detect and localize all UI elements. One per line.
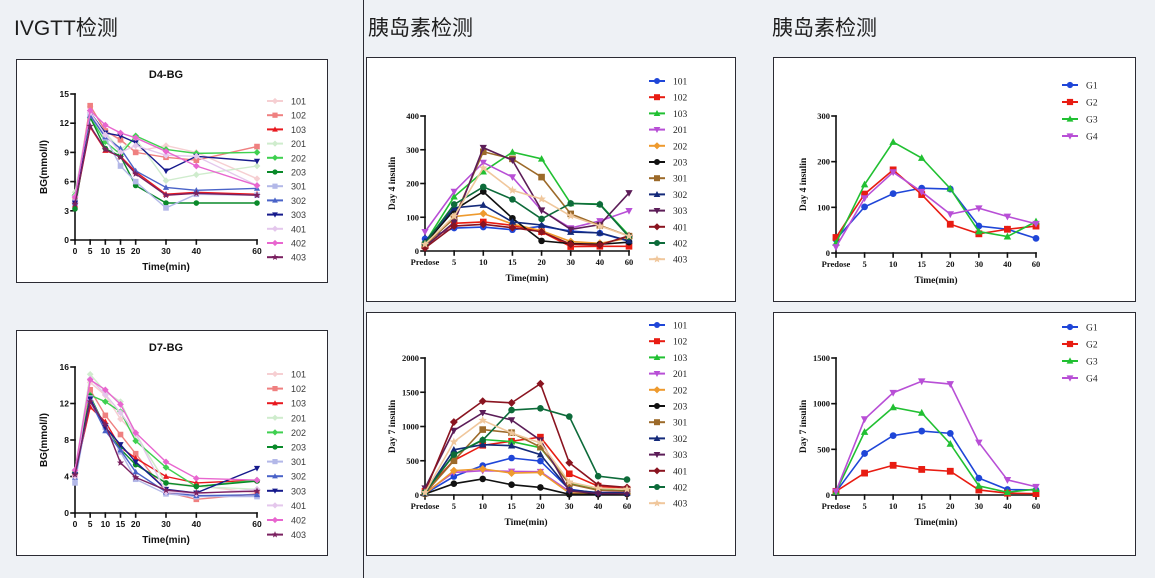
legend-marker-triangle-down-icon: [1062, 375, 1078, 381]
y-tick-label: 12: [60, 118, 70, 128]
chart-g-day4: 0100200300Predose5101520304060Time(min)D…: [774, 58, 1135, 301]
y-tick-label: 0: [64, 235, 69, 245]
x-tick-label: 60: [252, 519, 262, 529]
x-tick-label: 40: [594, 501, 603, 511]
legend-marker-triangle-icon: [267, 197, 283, 202]
legend-item-402[interactable]: 402: [649, 240, 688, 250]
x-tick-label: 10: [478, 501, 487, 511]
y-axis-label: Day 4 insulin: [799, 157, 809, 211]
x-tick-label: 15: [917, 501, 926, 511]
legend-item-101[interactable]: 101: [649, 78, 688, 88]
x-tick-label: 20: [946, 501, 955, 511]
legend-marker-triangle-down-icon: [649, 371, 665, 377]
y-tick-label: 15: [60, 89, 70, 99]
x-axis-label: Time(min): [142, 262, 190, 273]
y-tick-label: 200: [406, 179, 419, 189]
legend-label: 203: [291, 168, 306, 178]
legend-marker-diamond-icon: [267, 240, 283, 246]
legend-label: 201: [291, 413, 306, 423]
legend-marker-diamond-icon: [649, 223, 665, 230]
legend-label: 201: [673, 370, 688, 380]
chart-panel-day7-insulin: 0500100015002000Predose5101520304060Time…: [366, 312, 736, 556]
legend-label: 103: [673, 354, 688, 364]
legend-marker-triangle-icon: [649, 191, 665, 197]
legend-item-301[interactable]: 301: [649, 175, 688, 185]
legend-marker-diamond-icon: [267, 98, 283, 104]
legend-marker-triangle-icon: [267, 400, 283, 405]
y-tick-label: 0: [826, 248, 830, 258]
x-tick-label: 15: [917, 259, 926, 269]
x-tick-label: 30: [975, 501, 984, 511]
legend-item-101[interactable]: 101: [267, 370, 306, 380]
legend-marker-circle-icon: [649, 403, 665, 409]
legend-label: 202: [291, 428, 306, 438]
chart-legend: 101102103201202203301302303401402403: [649, 322, 688, 510]
legend-label: 101: [673, 78, 688, 88]
legend-marker-square-icon: [649, 175, 665, 181]
y-axis-label: Day 4 insulin: [388, 156, 398, 210]
y-tick-label: 6: [64, 177, 69, 187]
chart-legend: 101102103201202203301302303401402403: [267, 97, 306, 263]
chart-legend: 101102103201202203301302303401402403: [267, 370, 306, 541]
legend-label: 301: [673, 175, 688, 185]
x-axis: Predose5101520304060: [822, 253, 1041, 269]
legend-marker-triangle-icon: [267, 126, 283, 131]
y-tick-label: 100: [406, 212, 419, 222]
chart-d7bg: D7-BG048121605101520304060Time(min)BG(mm…: [17, 331, 327, 555]
y-axis-label: Day 7 insulin: [799, 399, 809, 453]
x-tick-label: 15: [507, 501, 516, 511]
legend-label: 203: [673, 159, 688, 169]
y-axis: 050010001500: [813, 353, 836, 500]
x-tick-label: 0: [73, 246, 78, 256]
legend-marker-star-icon: [267, 531, 283, 537]
legend-label: G3: [1086, 116, 1098, 126]
legend-item-301[interactable]: 301: [267, 457, 306, 467]
x-tick-label: 30: [161, 246, 171, 256]
x-tick-label: 20: [536, 501, 545, 511]
legend-item-G2[interactable]: G2: [1062, 341, 1098, 351]
x-tick-label: 30: [565, 501, 574, 511]
legend-label: 302: [673, 191, 688, 201]
legend-label: G2: [1086, 341, 1098, 351]
x-axis: 05101520304060: [73, 513, 262, 529]
legend-marker-square-icon: [1062, 99, 1078, 105]
legend-marker-diamond-icon: [267, 140, 283, 146]
legend-marker-circle-icon: [267, 444, 283, 449]
x-tick-label: 20: [131, 246, 141, 256]
y-axis-label: BG(mmol/l): [39, 140, 50, 194]
legend-item-103[interactable]: 103: [267, 125, 306, 135]
chart-panel-d7bg: D7-BG048121605101520304060Time(min)BG(mm…: [16, 330, 328, 556]
legend-marker-circle-icon: [649, 322, 665, 328]
x-tick-label: 20: [537, 257, 546, 267]
legend-label: 201: [673, 126, 688, 136]
legend-item-G4[interactable]: G4: [1062, 133, 1098, 143]
legend-marker-square-icon: [649, 419, 665, 425]
legend-item-203[interactable]: 203: [649, 159, 688, 169]
legend-item-401[interactable]: 401: [649, 223, 688, 233]
legend-label: 403: [673, 256, 688, 266]
legend-item-402[interactable]: 402: [267, 239, 306, 249]
legend-item-401[interactable]: 401: [649, 467, 688, 477]
legend-marker-diamond-icon: [267, 415, 283, 421]
x-tick-label: 20: [946, 259, 955, 269]
x-tick-label: 10: [479, 257, 488, 267]
x-tick-label: 5: [862, 501, 866, 511]
legend-marker-star-icon: [649, 255, 665, 262]
y-tick-label: 200: [817, 157, 830, 167]
chart-panel-g-day4: 0100200300Predose5101520304060Time(min)D…: [773, 57, 1136, 302]
legend-marker-triangle-down-icon: [649, 127, 665, 133]
legend-item-303[interactable]: 303: [649, 207, 688, 217]
y-tick-label: 4: [64, 472, 69, 482]
legend-label: 102: [291, 111, 306, 121]
legend-item-G1[interactable]: G1: [1062, 324, 1098, 334]
legend-item-302[interactable]: 302: [649, 191, 688, 201]
legend-item-301[interactable]: 301: [649, 419, 688, 429]
y-axis: 0481216: [60, 362, 75, 518]
legend-label: 303: [291, 210, 306, 220]
legend-marker-square-icon: [267, 113, 283, 118]
legend-marker-circle-icon: [649, 484, 665, 490]
x-axis: Predose5101520304060: [822, 495, 1041, 511]
x-tick-label: 60: [1032, 259, 1041, 269]
legend-marker-diamond-icon: [267, 502, 283, 508]
legend-label: G3: [1086, 358, 1098, 368]
legend-item-203[interactable]: 203: [267, 443, 306, 453]
x-tick-label: 5: [88, 246, 93, 256]
legend-item-G1[interactable]: G1: [1062, 82, 1098, 92]
x-tick-label: 5: [862, 259, 866, 269]
legend-marker-diamond-icon: [267, 155, 283, 161]
y-tick-label: 0: [415, 246, 419, 256]
legend-label: 102: [673, 94, 688, 104]
x-tick-label: 5: [452, 501, 456, 511]
legend-item-G3[interactable]: G3: [1062, 357, 1098, 367]
x-tick-label: 40: [596, 257, 605, 267]
legend-item-403[interactable]: 403: [267, 253, 306, 263]
y-tick-label: 500: [817, 444, 830, 454]
y-tick-label: 8: [64, 435, 69, 445]
chart-legend: G1G2G3G4: [1062, 82, 1098, 143]
x-axis-label: Time(min): [914, 275, 957, 286]
legend-label: 203: [673, 403, 688, 413]
column-title-ivgtt: IVGTT检测: [14, 12, 118, 42]
legend-label: 401: [291, 501, 306, 511]
legend-marker-diamond-icon: [267, 371, 283, 377]
legend-label: G4: [1086, 375, 1098, 385]
legend-marker-triangle-down-icon: [267, 212, 283, 217]
x-axis: 05101520304060: [73, 240, 262, 256]
chart-panel-g-day7: 050010001500Predose5101520304060Time(min…: [773, 312, 1136, 556]
y-tick-label: 500: [406, 456, 419, 466]
x-tick-label: 10: [101, 519, 111, 529]
legend-label: 303: [673, 207, 688, 217]
x-tick-label: 40: [192, 519, 202, 529]
legend-marker-square-icon: [267, 459, 283, 464]
y-tick-label: 300: [406, 145, 419, 155]
series-G1: [833, 428, 1040, 496]
legend-item-103[interactable]: 103: [649, 110, 688, 120]
legend-item-201[interactable]: 201: [649, 126, 688, 136]
legend-item-102[interactable]: 102: [649, 94, 688, 104]
legend-label: 301: [291, 457, 306, 467]
chart-panel-day4-insulin: 0100200300400Predose5101520304060Time(mi…: [366, 57, 736, 302]
y-tick-label: 1000: [402, 422, 419, 432]
legend-item-401[interactable]: 401: [267, 224, 306, 234]
legend-marker-square-icon: [1062, 341, 1078, 347]
legend-item-403[interactable]: 403: [649, 499, 688, 510]
legend-label: 202: [291, 153, 306, 163]
legend-label: 101: [291, 370, 306, 380]
legend-marker-triangle-icon: [649, 110, 665, 116]
legend-item-203[interactable]: 203: [267, 168, 306, 178]
x-axis-label: Time(min): [914, 517, 957, 528]
y-axis: 0500100015002000: [402, 353, 425, 500]
legend-item-203[interactable]: 203: [649, 403, 688, 413]
legend-label: 401: [291, 224, 306, 234]
legend-label: 302: [673, 435, 688, 445]
legend-marker-square-icon: [267, 184, 283, 189]
legend-marker-circle-icon: [649, 78, 665, 84]
chart-title: D4-BG: [149, 69, 183, 81]
legend-label: 101: [291, 97, 306, 107]
legend-label: 401: [673, 467, 688, 477]
x-tick-label: Predose: [411, 257, 440, 267]
legend-marker-triangle-down-icon: [267, 489, 283, 494]
legend-item-G4[interactable]: G4: [1062, 375, 1098, 385]
legend-item-201[interactable]: 201: [649, 370, 688, 380]
legend-item-201[interactable]: 201: [267, 413, 306, 423]
x-tick-label: 10: [101, 246, 111, 256]
legend-item-202[interactable]: 202: [267, 428, 306, 438]
x-tick-label: 30: [975, 259, 984, 269]
y-axis-label: Day 7 insulin: [388, 399, 398, 453]
legend-marker-diamond-icon: [267, 429, 283, 435]
chart-day7-insulin: 0500100015002000Predose5101520304060Time…: [367, 313, 735, 555]
chart-title: D7-BG: [149, 342, 183, 354]
y-tick-label: 9: [64, 147, 69, 157]
legend-item-103[interactable]: 103: [649, 354, 688, 364]
legend-marker-triangle-icon: [649, 354, 665, 360]
legend-marker-square-icon: [649, 338, 665, 344]
legend-item-303[interactable]: 303: [649, 451, 688, 461]
y-tick-label: 0: [415, 490, 419, 500]
legend-label: 202: [673, 142, 688, 152]
legend-marker-triangle-icon: [267, 473, 283, 478]
legend-item-202[interactable]: 202: [649, 386, 688, 396]
legend-item-201[interactable]: 201: [267, 139, 306, 149]
legend-marker-star-icon: [649, 499, 665, 506]
x-tick-label: 30: [566, 257, 575, 267]
legend-item-402[interactable]: 402: [267, 516, 306, 526]
legend-marker-circle-icon: [649, 240, 665, 246]
legend-item-202[interactable]: 202: [649, 142, 688, 152]
legend-item-403[interactable]: 403: [267, 530, 306, 540]
legend-marker-star-icon: [267, 254, 283, 260]
legend-item-202[interactable]: 202: [267, 153, 306, 163]
legend-label: 102: [673, 338, 688, 348]
legend-label: 103: [291, 399, 306, 409]
x-tick-label: 60: [623, 501, 632, 511]
legend-item-102[interactable]: 102: [267, 111, 306, 121]
legend-marker-triangle-icon: [649, 435, 665, 441]
legend-label: 403: [291, 530, 306, 540]
y-tick-label: 16: [60, 362, 70, 372]
legend-label: 103: [291, 125, 306, 135]
legend-label: G2: [1086, 99, 1098, 109]
x-tick-label: 5: [88, 519, 93, 529]
column-divider: [363, 0, 364, 578]
legend-label: 302: [291, 196, 306, 206]
legend-item-403[interactable]: 403: [649, 255, 688, 266]
legend-label: 403: [291, 253, 306, 263]
legend-marker-triangle-icon: [1062, 115, 1078, 121]
x-tick-label: Predose: [822, 259, 851, 269]
chart-legend: 101102103201202203301302303401402403: [649, 78, 688, 266]
x-tick-label: 15: [116, 246, 126, 256]
chart-legend: G1G2G3G4: [1062, 324, 1098, 385]
x-tick-label: Predose: [411, 501, 440, 511]
y-tick-label: 3: [64, 206, 69, 216]
legend-marker-triangle-down-icon: [649, 208, 665, 214]
legend-item-401[interactable]: 401: [267, 501, 306, 511]
legend-item-102[interactable]: 102: [267, 384, 306, 394]
legend-marker-diamond-icon: [649, 386, 665, 393]
x-tick-label: 40: [192, 246, 202, 256]
legend-marker-diamond-icon: [267, 226, 283, 232]
legend-label: 101: [673, 322, 688, 332]
legend-label: 302: [291, 472, 306, 482]
x-tick-label: 30: [161, 519, 171, 529]
x-tick-label: 15: [508, 257, 517, 267]
legend-item-303[interactable]: 303: [267, 210, 306, 220]
legend-label: 301: [291, 182, 306, 192]
y-tick-label: 1000: [813, 399, 830, 409]
legend-label: G4: [1086, 133, 1098, 143]
chart-g-day7: 050010001500Predose5101520304060Time(min…: [774, 313, 1135, 555]
legend-label: 402: [291, 516, 306, 526]
legend-item-302[interactable]: 302: [649, 435, 688, 445]
legend-item-G2[interactable]: G2: [1062, 99, 1098, 109]
legend-label: 402: [673, 240, 688, 250]
x-tick-label: 10: [889, 501, 898, 511]
legend-label: G1: [1086, 324, 1098, 334]
y-tick-label: 1500: [402, 387, 419, 397]
y-tick-label: 12: [60, 399, 70, 409]
legend-label: 303: [673, 451, 688, 461]
legend-item-101[interactable]: 101: [267, 97, 306, 107]
legend-marker-triangle-down-icon: [1062, 133, 1078, 139]
x-tick-label: 0: [73, 519, 78, 529]
legend-label: G1: [1086, 82, 1098, 92]
legend-item-101[interactable]: 101: [649, 322, 688, 332]
x-axis-label: Time(min): [505, 273, 548, 284]
legend-marker-triangle-icon: [1062, 357, 1078, 363]
legend-marker-circle-icon: [1062, 324, 1078, 330]
legend-item-302[interactable]: 302: [267, 472, 306, 482]
legend-marker-circle-icon: [1062, 82, 1078, 88]
series-403: [71, 122, 260, 207]
legend-item-G3[interactable]: G3: [1062, 115, 1098, 125]
legend-item-302[interactable]: 302: [267, 196, 306, 206]
y-tick-label: 0: [826, 490, 830, 500]
column-title-insulin-middle: 胰岛素检测: [368, 12, 473, 42]
legend-label: 303: [291, 486, 306, 496]
legend-marker-circle-icon: [649, 159, 665, 165]
x-tick-label: Predose: [822, 501, 851, 511]
legend-label: 203: [291, 443, 306, 453]
y-tick-label: 0: [64, 508, 69, 518]
x-tick-label: 60: [252, 246, 262, 256]
column-title-insulin-right: 胰岛素检测: [772, 12, 877, 42]
y-tick-label: 100: [817, 202, 830, 212]
y-axis: 0100200300400: [406, 111, 425, 256]
x-tick-label: 15: [116, 519, 126, 529]
x-tick-label: 40: [1003, 501, 1012, 511]
legend-label: 102: [291, 384, 306, 394]
legend-marker-diamond-icon: [267, 517, 283, 523]
x-axis-label: Time(min): [142, 535, 190, 546]
x-tick-label: 5: [452, 257, 456, 267]
legend-item-301[interactable]: 301: [267, 182, 306, 192]
x-tick-label: 20: [131, 519, 141, 529]
legend-label: 402: [673, 484, 688, 494]
x-tick-label: 10: [889, 259, 898, 269]
x-axis: Predose5101520304060: [411, 251, 634, 267]
x-tick-label: 60: [625, 257, 634, 267]
y-tick-label: 2000: [402, 353, 419, 363]
y-axis: 03691215: [60, 89, 75, 245]
chart-panel-d4bg: D4-BG0369121505101520304060Time(min)BG(m…: [16, 59, 328, 283]
series-G4: [832, 378, 1039, 495]
y-axis-label: BG(mmol/l): [39, 413, 50, 467]
chart-d4bg: D4-BG0369121505101520304060Time(min)BG(m…: [17, 60, 327, 282]
legend-marker-circle-icon: [267, 169, 283, 174]
legend-item-102[interactable]: 102: [649, 338, 688, 348]
legend-marker-diamond-icon: [649, 142, 665, 149]
legend-label: 301: [673, 419, 688, 429]
legend-item-103[interactable]: 103: [267, 399, 306, 409]
chart-day4-insulin: 0100200300400Predose5101520304060Time(mi…: [367, 58, 735, 301]
legend-label: 401: [673, 223, 688, 233]
legend-marker-triangle-down-icon: [649, 452, 665, 458]
legend-marker-square-icon: [649, 94, 665, 100]
legend-label: 201: [291, 139, 306, 149]
legend-label: 103: [673, 110, 688, 120]
legend-marker-square-icon: [267, 386, 283, 391]
y-tick-label: 1500: [813, 353, 830, 363]
legend-label: 402: [291, 239, 306, 249]
x-tick-label: 60: [1032, 501, 1041, 511]
y-tick-label: 400: [406, 111, 419, 121]
x-axis-label: Time(min): [504, 517, 547, 528]
legend-marker-diamond-icon: [649, 467, 665, 474]
legend-item-402[interactable]: 402: [649, 484, 688, 494]
x-tick-label: 40: [1003, 259, 1012, 269]
legend-label: 202: [673, 386, 688, 396]
y-tick-label: 300: [817, 111, 830, 121]
legend-label: 403: [673, 500, 688, 510]
legend-item-303[interactable]: 303: [267, 486, 306, 496]
